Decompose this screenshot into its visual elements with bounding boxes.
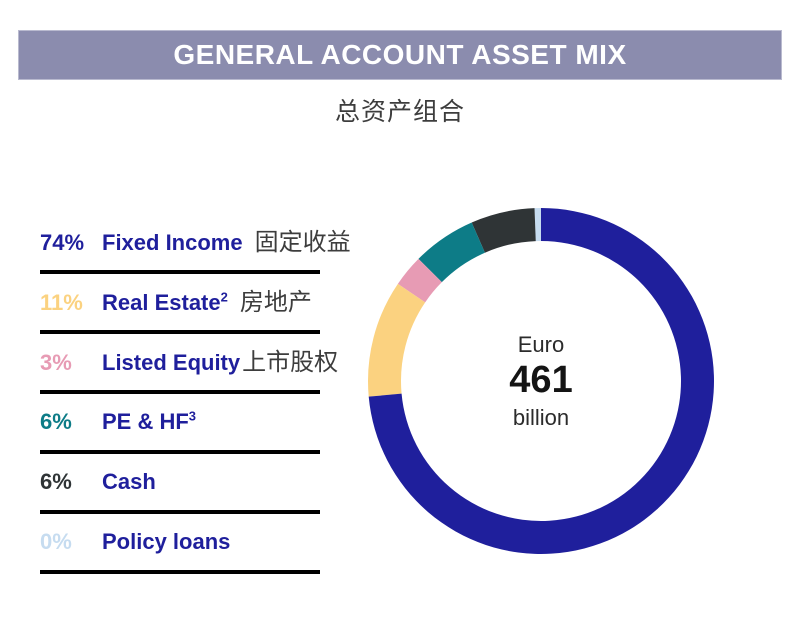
header-banner: GENERAL ACCOUNT ASSET MIX [18, 30, 782, 80]
legend-label: Cash [102, 454, 156, 510]
donut-segments [368, 208, 714, 554]
legend-label-text: Real Estate [102, 290, 221, 315]
asset-mix-donut-chart: Euro 461 billion [364, 204, 718, 558]
legend-label: Listed Equity [102, 335, 240, 391]
legend-percent: 11% [40, 275, 102, 331]
legend-label: Real Estate2 [102, 275, 228, 331]
legend-percent: 3% [40, 335, 102, 391]
page-title: GENERAL ACCOUNT ASSET MIX [173, 39, 626, 71]
legend-footnote-marker: 2 [221, 290, 228, 305]
legend-label-text: Cash [102, 469, 156, 494]
legend-divider [40, 570, 320, 574]
legend-percent: 0% [40, 514, 102, 570]
legend-percent: 74% [40, 215, 102, 271]
legend-label: Fixed Income [102, 215, 243, 271]
subtitle-chinese: 总资产组合 [0, 92, 800, 128]
legend-label-text: PE & HF [102, 409, 189, 434]
legend-footnote-marker: 3 [189, 409, 196, 424]
donut-segment-real-estate[interactable] [368, 284, 425, 397]
legend-label-chinese: 房地产 [228, 274, 312, 330]
legend-label-chinese: 上市股权 [240, 334, 338, 390]
legend-label: PE & HF3 [102, 394, 196, 450]
legend-percent: 6% [40, 394, 102, 450]
legend-label-text: Policy loans [102, 529, 230, 554]
legend-label-text: Fixed Income [102, 230, 243, 255]
legend-label-chinese: 固定收益 [243, 214, 351, 270]
donut-svg [364, 204, 718, 558]
legend-label: Policy loans [102, 514, 230, 570]
legend-percent: 6% [40, 454, 102, 510]
legend-label-text: Listed Equity [102, 350, 240, 375]
slide-canvas: GENERAL ACCOUNT ASSET MIX 总资产组合 74% Fixe… [0, 0, 800, 642]
